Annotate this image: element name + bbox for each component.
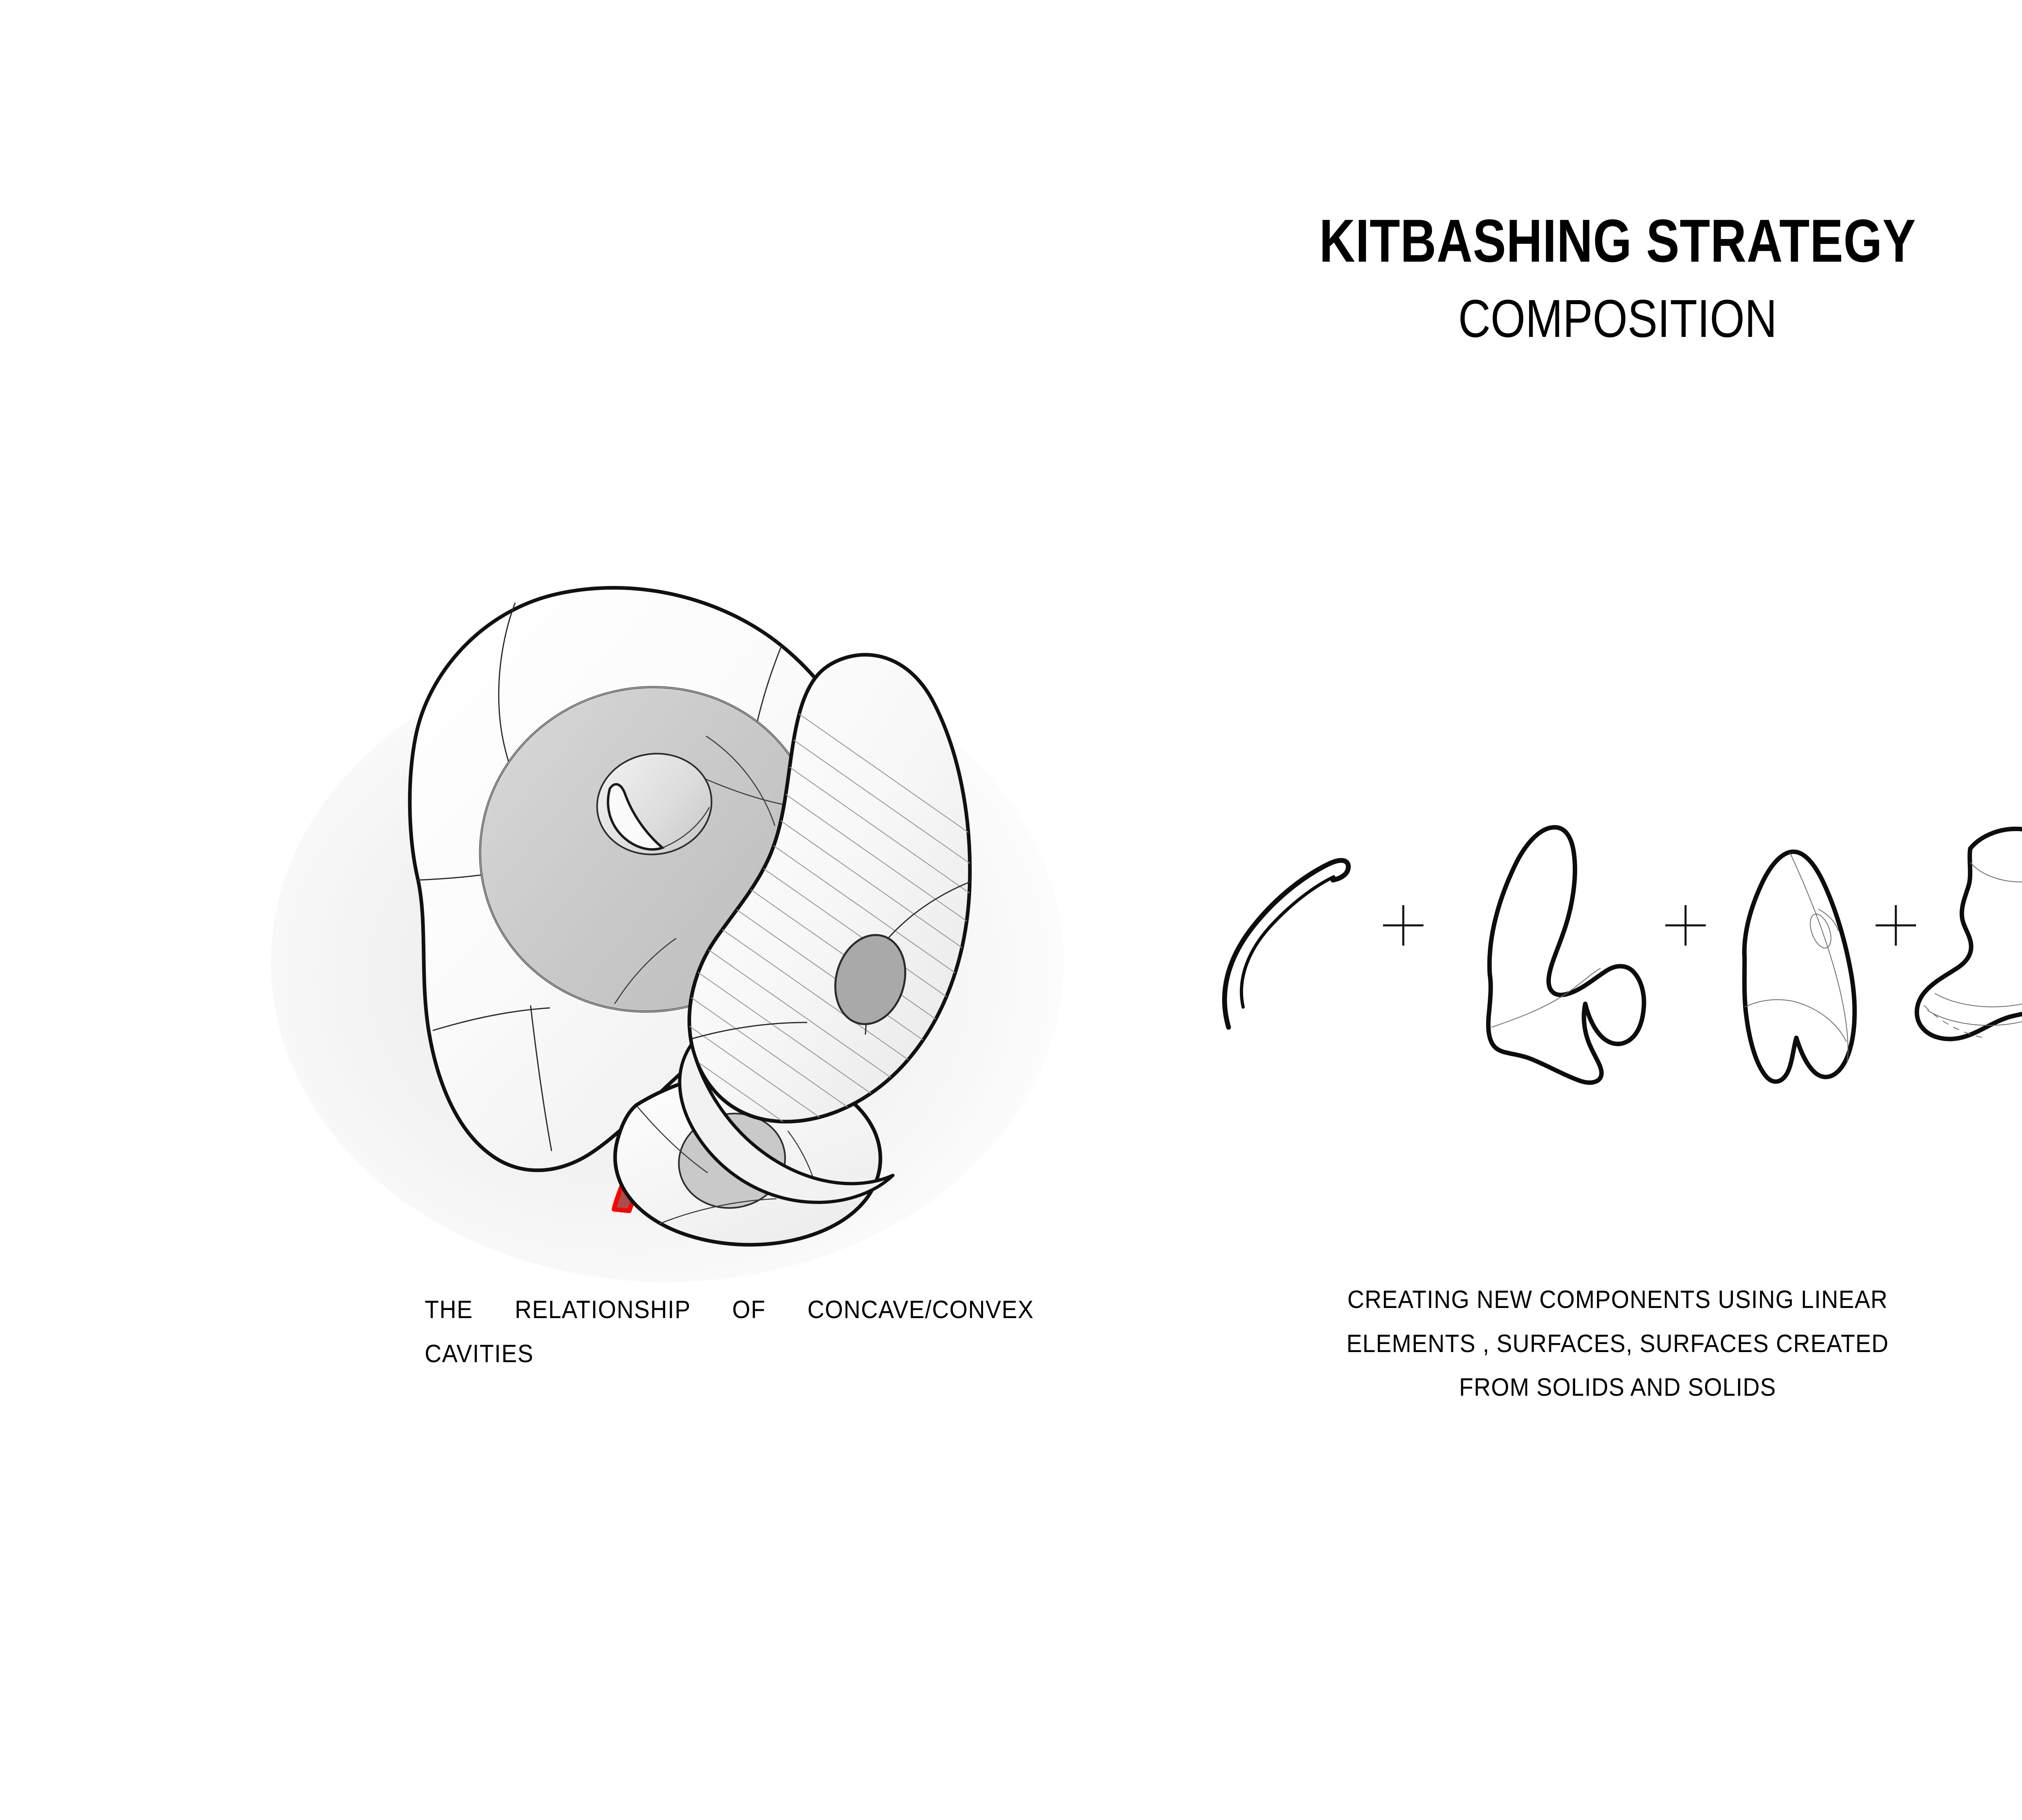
plus-operator-3 [1876,905,1916,946]
title-block: KITBASHING STRATEGY COMPOSITION [0,210,2022,345]
caption-middle: CREATING NEW COMPONENTS USING LINEAR ELE… [1313,1278,1923,1410]
page-title: KITBASHING STRATEGY [291,210,2022,271]
component-equation [1173,748,2022,1072]
equation-illustration [1173,748,2022,1072]
linear-element [1225,860,1348,1027]
render-concave-convex [226,526,1197,1294]
slide-canvas: KITBASHING STRATEGY COMPOSITION [0,0,2022,1820]
surface-from-solid-element [1744,852,1855,1081]
concave-convex-illustration [226,526,1197,1294]
plus-operator-1 [1383,905,1423,946]
plus-operator-2 [1665,905,1706,946]
caption-left: THE RELATIONSHIP OF CONCAVE/CONVEX CAVIT… [425,1288,1034,1376]
solid-element [1917,829,2022,1039]
page-subtitle: COMPOSITION [259,292,2022,345]
surface-element [1488,827,1644,1083]
